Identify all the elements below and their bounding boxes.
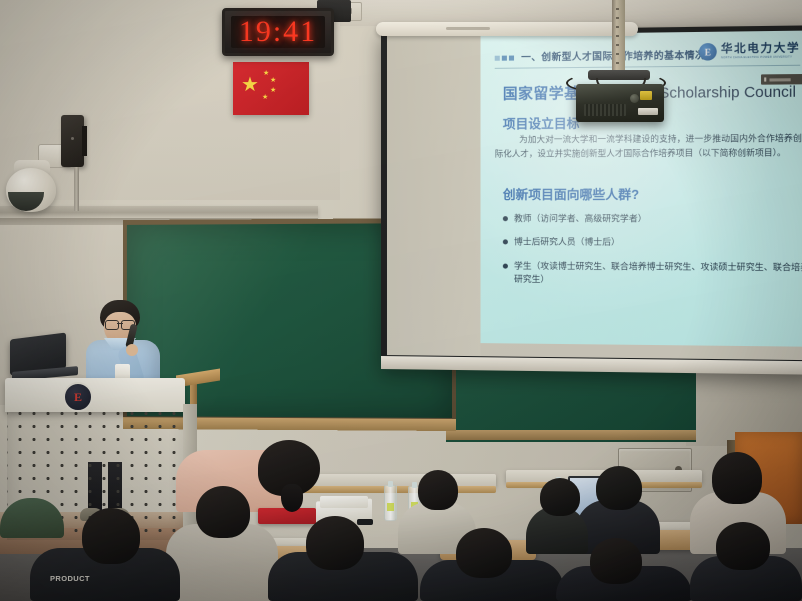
slide-question-heading: 创新项目面向哪些人群? — [503, 184, 639, 203]
wall-speaker-icon — [61, 115, 84, 167]
student-head-front — [306, 516, 364, 570]
list-item: 博士后研究人员（博士后） — [503, 236, 802, 251]
wall-rail — [0, 206, 318, 218]
water-bottle[interactable] — [384, 485, 397, 521]
flag-star-1: ★ — [263, 70, 269, 77]
screen-edge-chip — [761, 74, 802, 85]
projector-lens-icon — [630, 94, 639, 103]
bullet-dot-icon — [503, 216, 508, 221]
screen-unlit-margin — [387, 35, 481, 356]
logo-name-cn: 华北电力大学 — [721, 43, 800, 55]
slide-bullet-list: 教师（访问学者、高级研究学者） 博士后研究人员（博士后） 学生（攻读博士研究生、… — [503, 212, 802, 298]
presenter-laptop[interactable] — [10, 336, 72, 380]
student-head-front — [456, 528, 512, 578]
jacket-text: PRODUCT — [50, 574, 90, 583]
bullet-dot-icon — [503, 263, 508, 268]
student-hair-strand — [281, 484, 303, 512]
slide-paragraph: 为加大对一流大学和一流学科建设的支持，进一步推动国内外合作培养创新型国际化人才，… — [495, 132, 802, 161]
list-item: 教师（访问学者、高级研究学者） — [503, 212, 802, 226]
student-head — [712, 452, 762, 504]
student-head-front — [590, 538, 642, 584]
emblem-letter: E — [74, 390, 82, 405]
lectern-top — [5, 378, 185, 412]
bullet-dot-icon — [503, 240, 508, 245]
bullet-text: 教师（访问学者、高级研究学者） — [514, 212, 647, 226]
projector-label-yellow — [640, 91, 652, 100]
bullet-text: 博士后研究人员（博士后） — [514, 236, 620, 250]
flag-star-2: ★ — [270, 77, 276, 84]
student-head — [418, 470, 458, 510]
student-head-front — [196, 486, 250, 538]
university-logo: E 华北电力大学 NORTH CHINA ELECTRIC POWER UNIV… — [699, 42, 800, 61]
chalkboard-right-tray — [446, 430, 696, 440]
slide-header-rule — [495, 65, 801, 69]
slide-header-marker-icon — [495, 56, 514, 61]
clock-time-display: 19:41 — [239, 15, 317, 49]
bullet-text: 学生（攻读博士研究生、联合培养博士研究生、攻读硕士研究生、联合培养硕士研究生） — [514, 259, 802, 288]
logo-mark-icon: E — [699, 43, 717, 61]
projector-mount-pole — [612, 0, 625, 76]
presenter-hand — [126, 344, 138, 356]
flag-star-4: ★ — [262, 94, 268, 101]
slide-section-heading: 项目设立目标 — [503, 113, 580, 133]
logo-name-en: NORTH CHINA ELECTRIC POWER UNIVERSITY — [721, 56, 800, 60]
led-wall-clock: 19:41 — [222, 8, 334, 56]
ceiling-projector-icon — [576, 84, 664, 122]
logo-text-block: 华北电力大学 NORTH CHINA ELECTRIC POWER UNIVER… — [721, 43, 800, 60]
projector-label-white — [638, 108, 658, 115]
student-head — [596, 466, 642, 510]
student-head-front — [82, 508, 140, 564]
projector-vent — [584, 104, 626, 116]
screen-roller-housing — [376, 22, 638, 36]
student-head — [540, 478, 580, 516]
speaker-side-panel — [82, 126, 87, 156]
papers-stack-top — [320, 496, 368, 508]
flag-star-3: ★ — [270, 87, 276, 94]
speaker-support-pole — [74, 167, 79, 211]
student-head-front — [716, 522, 770, 570]
flag-star-large: ★ — [241, 75, 259, 95]
lecture-hall-photo: ★ ★ ★ ★ ★ 19:41 一、创新型人才国际合作培养的基本情况 — [0, 0, 802, 601]
smartphone[interactable] — [357, 519, 373, 525]
university-emblem-icon: E — [63, 382, 93, 412]
china-flag: ★ ★ ★ ★ ★ — [233, 62, 309, 115]
list-item: 学生（攻读博士研究生、联合培养博士研究生、攻读硕士研究生、联合培养硕士研究生） — [503, 259, 802, 288]
